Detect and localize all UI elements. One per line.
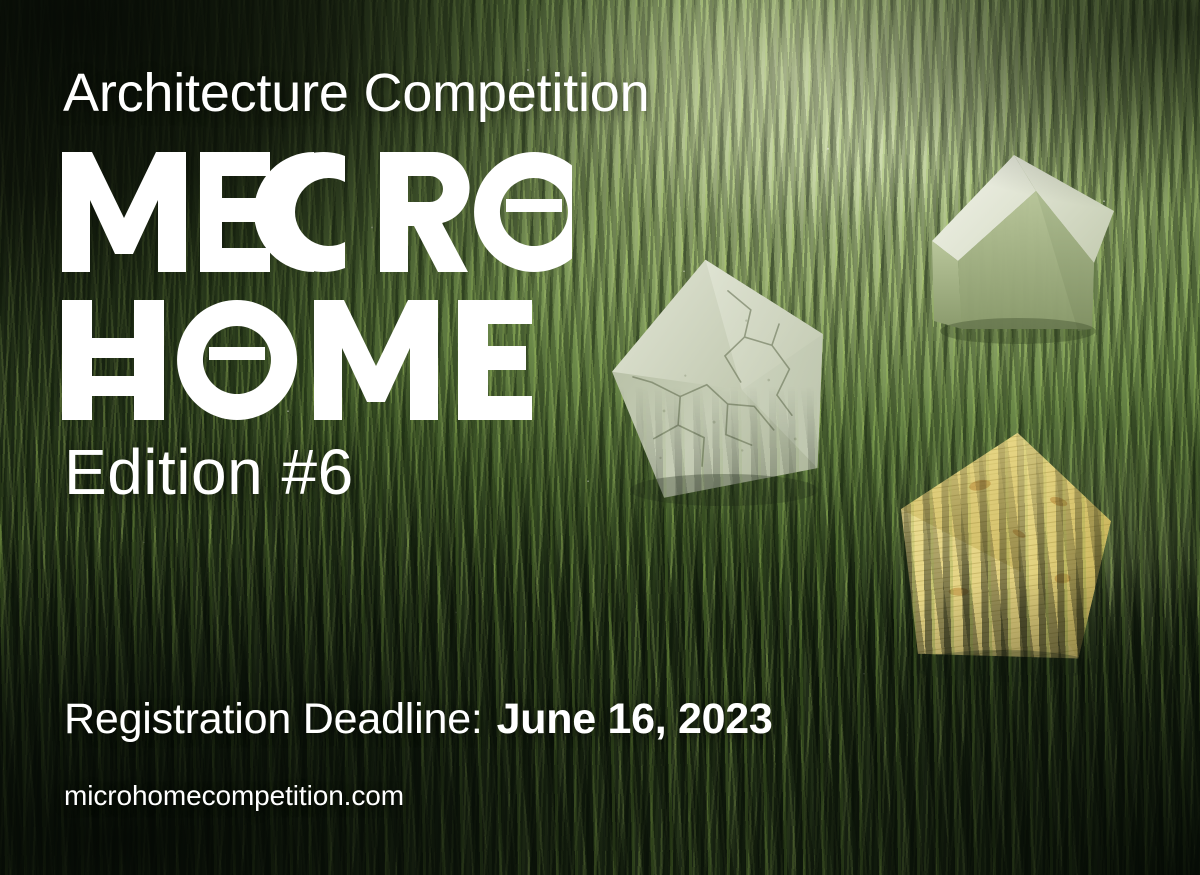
house-form-sage [918, 133, 1133, 348]
edition-label: Edition #6 [64, 440, 354, 504]
deadline-date: June 16, 2023 [497, 695, 773, 743]
house-form-concrete [592, 252, 862, 524]
logo-glyphs [62, 152, 572, 420]
page-title: Architecture Competition [63, 66, 649, 120]
house-form-wood [876, 424, 1128, 694]
deadline-label: Registration Deadline: [64, 695, 483, 743]
poster: Architecture Competition MICRO HOME [0, 0, 1200, 875]
registration-deadline: Registration Deadline:June 16, 2023 [64, 698, 772, 741]
micro-home-logo: MICRO HOME [62, 152, 572, 425]
website-url[interactable]: microhomecompetition.com [64, 782, 404, 810]
